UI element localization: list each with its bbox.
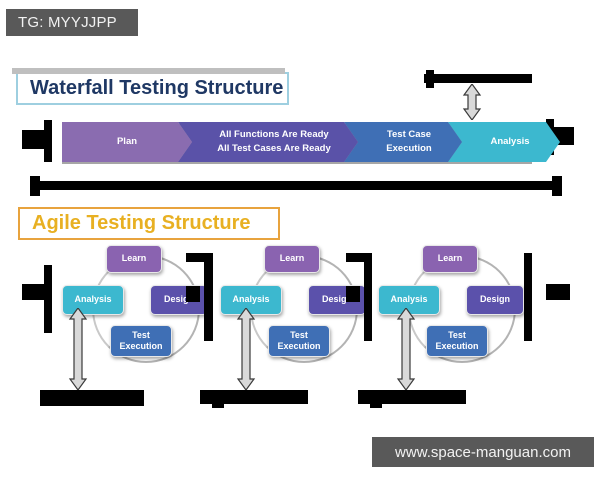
agile-node-label: Learn bbox=[122, 253, 147, 264]
dim-cap-top-l bbox=[426, 70, 434, 88]
banner-shadow-strip bbox=[12, 68, 285, 74]
dim-cap-main-r bbox=[552, 176, 562, 196]
tick-design-1 bbox=[186, 286, 200, 302]
agile-node-label: TestExecution bbox=[435, 330, 478, 353]
stage-label: Test CaseExecution bbox=[374, 128, 431, 156]
stage-label: Analysis bbox=[478, 135, 529, 149]
agile-node-label: Analysis bbox=[390, 294, 427, 305]
waterfall-stage-execution: Test CaseExecution bbox=[344, 122, 462, 162]
stage-label: All Functions Are ReadyAll Test Cases Ar… bbox=[205, 128, 331, 156]
agile-node-label: Learn bbox=[280, 253, 305, 264]
waterfall-title-banner: Waterfall Testing Structure bbox=[16, 72, 289, 105]
stub-cluster-3 bbox=[346, 253, 368, 262]
base-tick-2 bbox=[212, 392, 224, 408]
dim-bar-main bbox=[32, 181, 560, 190]
waterfall-title-text: Waterfall Testing Structure bbox=[30, 77, 283, 100]
agile-node-test: TestExecution bbox=[110, 325, 172, 357]
stub-right-mid bbox=[546, 284, 570, 300]
agile-node-label: Design bbox=[480, 294, 510, 305]
agile-node-test: TestExecution bbox=[268, 325, 330, 357]
agile-node-learn: Learn bbox=[106, 245, 162, 273]
agile-title-banner: Agile Testing Structure bbox=[18, 207, 280, 240]
waterfall-stage-ready: All Functions Are ReadyAll Test Cases Ar… bbox=[178, 122, 358, 162]
tick-design-2 bbox=[346, 286, 360, 302]
agile-node-design: Design bbox=[466, 285, 524, 315]
agile-node-learn: Learn bbox=[264, 245, 320, 273]
watermark-badge: www.space-manguan.com bbox=[372, 437, 594, 467]
waterfall-stage-plan: Plan bbox=[62, 122, 192, 162]
arrow-cluster-1 bbox=[68, 308, 88, 390]
arrow-waterfall-analysis bbox=[462, 84, 482, 120]
vrule-right-edge bbox=[524, 253, 532, 341]
base-tick-3 bbox=[370, 392, 382, 408]
bracket-left-bar bbox=[44, 120, 52, 162]
stub-left-mid bbox=[22, 284, 46, 300]
agile-node-label: Analysis bbox=[232, 294, 269, 305]
agile-node-label: Learn bbox=[438, 253, 463, 264]
dim-bar-top bbox=[424, 74, 532, 83]
agile-node-label: Analysis bbox=[74, 294, 111, 305]
vrule-cluster-2 bbox=[204, 253, 213, 341]
agile-node-label: TestExecution bbox=[119, 330, 162, 353]
base-bar-1 bbox=[40, 390, 144, 406]
agile-node-label: TestExecution bbox=[277, 330, 320, 353]
vrule-cluster-3 bbox=[364, 253, 372, 341]
watermark-text: www.space-manguan.com bbox=[395, 444, 571, 461]
arrow-cluster-3 bbox=[396, 308, 416, 390]
agile-node-test: TestExecution bbox=[426, 325, 488, 357]
stage-label: Plan bbox=[117, 135, 137, 149]
agile-node-learn: Learn bbox=[422, 245, 478, 273]
tag-badge: TG: MYYJJPP bbox=[6, 9, 138, 36]
waterfall-stage-analysis: Analysis bbox=[448, 122, 560, 162]
agile-title-text: Agile Testing Structure bbox=[32, 212, 251, 235]
agile-cluster-1: LearnAnalysisDesignTestExecution bbox=[62, 245, 242, 370]
waterfall-chevron-band: PlanAll Functions Are ReadyAll Test Case… bbox=[60, 122, 534, 166]
diagram-canvas: PlanAll Functions Are ReadyAll Test Case… bbox=[0, 0, 600, 480]
dim-cap-main-l bbox=[30, 176, 40, 196]
tag-badge-text: TG: MYYJJPP bbox=[18, 14, 117, 31]
stub-cluster-2 bbox=[186, 253, 208, 262]
arrow-cluster-2 bbox=[236, 308, 256, 390]
